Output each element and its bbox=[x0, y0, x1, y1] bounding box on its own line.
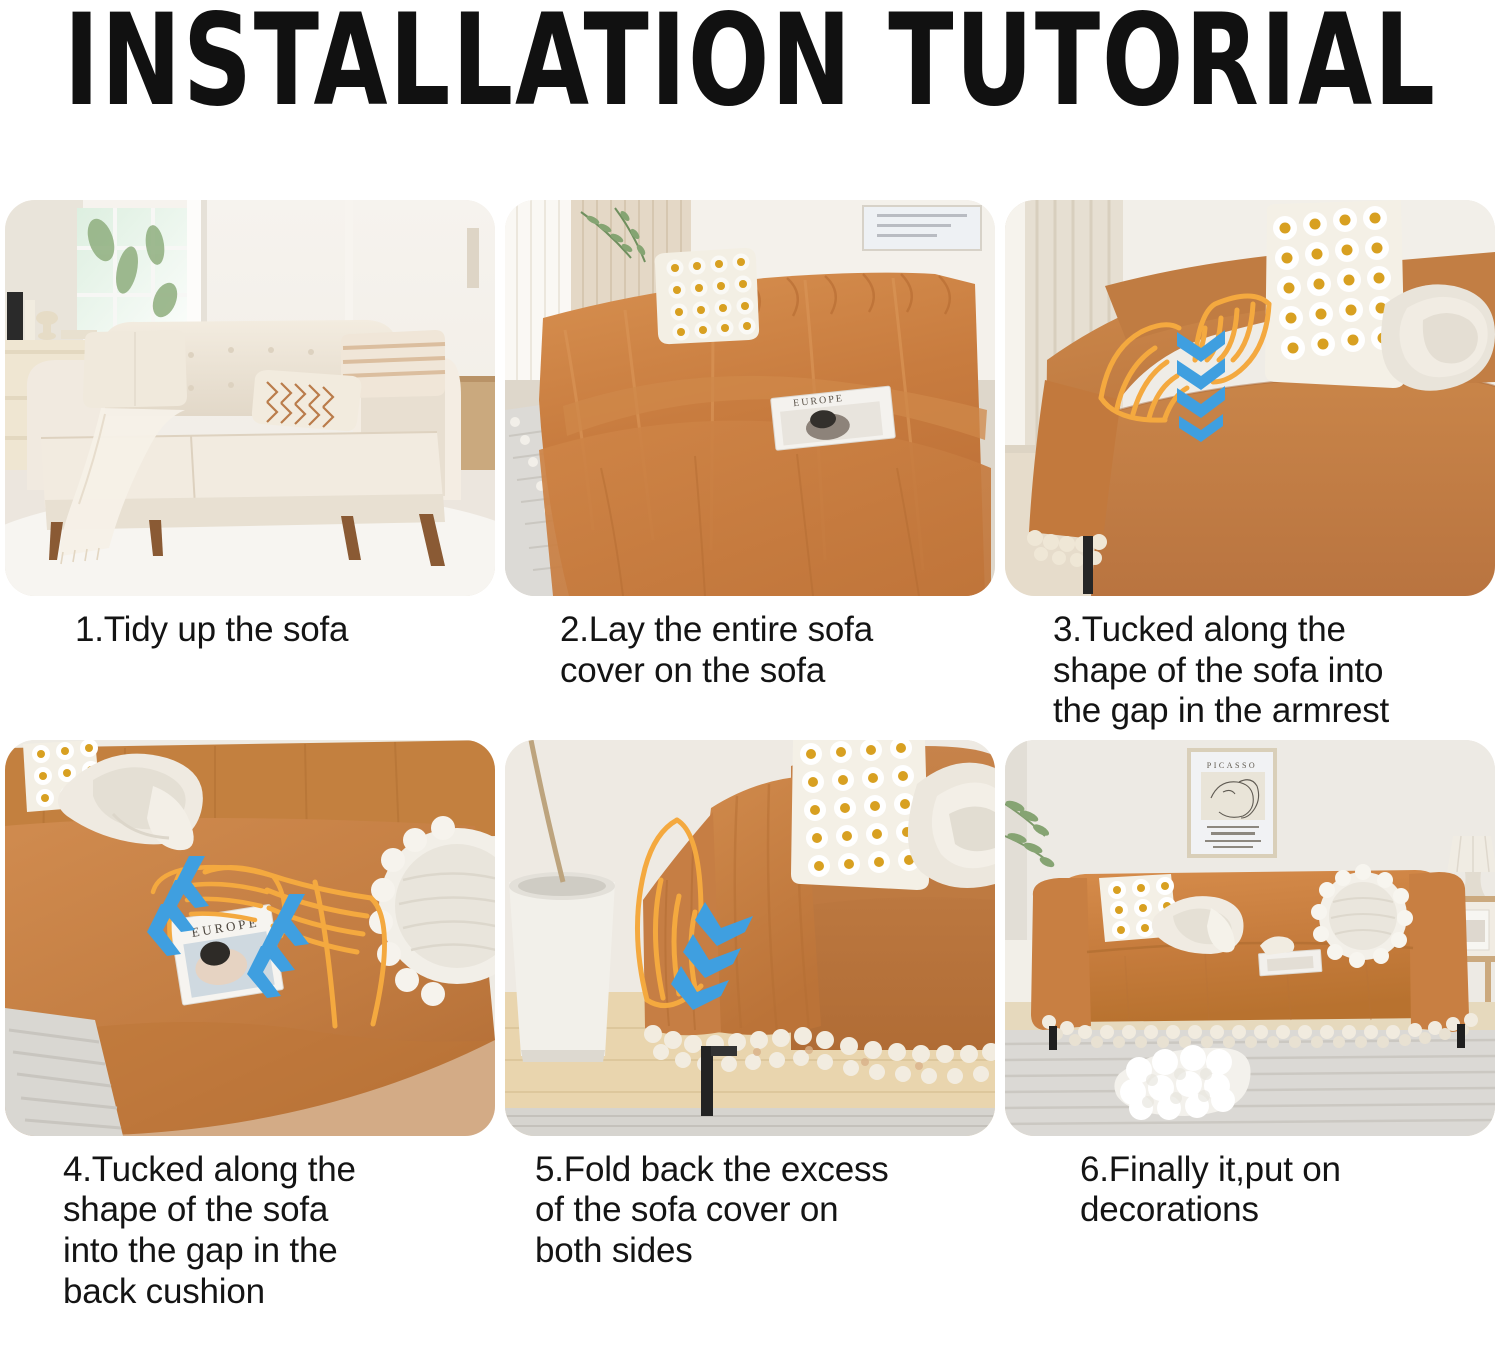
final-decorated-illustration: PICASSO bbox=[1005, 740, 1495, 1136]
knot-bolster bbox=[908, 762, 995, 887]
tuck-armrest-photo bbox=[1005, 200, 1495, 596]
fold-sides-photo bbox=[505, 740, 995, 1136]
tutorial-step-5: 5.Fold back the excess of the sofa cover… bbox=[505, 740, 995, 1312]
page-title: INSTALLATION TUTORIAL bbox=[63, 0, 1436, 123]
tutorial-step-2: EUROPE 2.Lay the entire sofa cover on th… bbox=[505, 200, 995, 732]
tuck-back-cushion-illustration: EUROPE bbox=[5, 740, 495, 1136]
step-1-caption: 1.Tidy up the sofa bbox=[5, 610, 495, 651]
fold-sides-illustration bbox=[505, 740, 995, 1136]
lay-cover-photo: EUROPE bbox=[505, 200, 995, 596]
poster-title: PICASSO bbox=[1207, 761, 1257, 770]
step-5-caption: 5.Fold back the excess of the sofa cover… bbox=[505, 1150, 995, 1272]
step-4-caption: 4.Tucked along the shape of the sofa int… bbox=[5, 1150, 495, 1312]
tuck-back-cushion-photo: EUROPE bbox=[5, 740, 495, 1136]
tutorial-step-4: EUROPE bbox=[5, 740, 495, 1312]
tutorial-step-3: 3.Tucked along the shape of the sofa int… bbox=[1005, 200, 1495, 732]
tuck-armrest-illustration bbox=[1005, 200, 1495, 596]
step-2-caption: 2.Lay the entire sofa cover on the sofa bbox=[505, 610, 995, 691]
tidy-sofa-photo bbox=[5, 200, 495, 596]
page-header: INSTALLATION TUTORIAL bbox=[0, 0, 1500, 120]
step-3-caption: 3.Tucked along the shape of the sofa int… bbox=[1005, 610, 1495, 732]
tidy-sofa-illustration bbox=[5, 200, 495, 596]
step-6-caption: 6.Finally it,put on decorations bbox=[1005, 1150, 1495, 1231]
lay-cover-illustration: EUROPE bbox=[505, 200, 995, 596]
tutorial-step-6: PICASSO bbox=[1005, 740, 1495, 1312]
tutorial-steps-grid: 1.Tidy up the sofa bbox=[5, 200, 1495, 1312]
installation-tutorial-page: INSTALLATION TUTORIAL bbox=[0, 0, 1500, 1370]
picasso-poster: PICASSO bbox=[1187, 748, 1277, 858]
final-decorated-photo: PICASSO bbox=[1005, 740, 1495, 1136]
tutorial-step-1: 1.Tidy up the sofa bbox=[5, 200, 495, 732]
